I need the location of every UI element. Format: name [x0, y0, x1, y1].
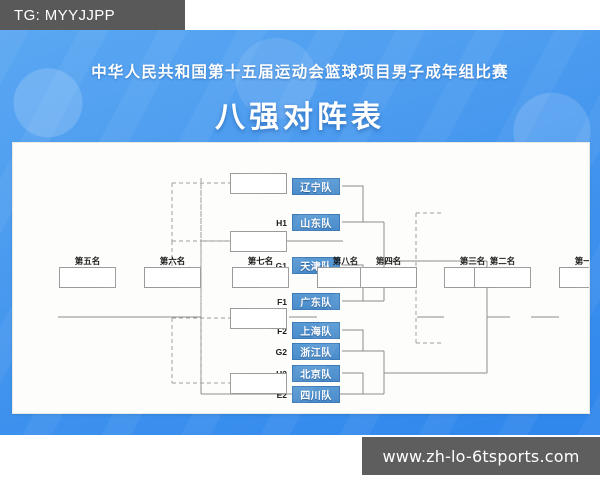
- team-chip-guangdong[interactable]: 广东队: [292, 293, 340, 310]
- consolation-slot-2[interactable]: [230, 231, 287, 252]
- team-chip-liaoning[interactable]: 辽宁队: [292, 178, 340, 195]
- page-title: 中华人民共和国第十五届运动会篮球项目男子成年组比赛: [0, 60, 600, 82]
- telegram-banner: TG: MYYJJPP: [0, 0, 185, 30]
- url-watermark: www.zh-lo-6tsports.com: [362, 437, 600, 475]
- rank-slot-1[interactable]: [559, 267, 590, 288]
- rank-label-2: 第二名: [474, 255, 531, 267]
- bracket-card: E1 辽宁队 H1 山东队 G1 天津队 F1 广东队 F2 上海队 G2 浙江…: [12, 142, 590, 414]
- rank-label-7: 第七名: [232, 255, 289, 267]
- rank-label-4: 第四名: [360, 255, 417, 267]
- consolation-slot-1[interactable]: [230, 173, 287, 194]
- screenshot-root: TG: MYYJJPP 中华人民共和国第十五届运动会篮球项目男子成年组比赛 八强…: [0, 0, 600, 480]
- team-chip-beijing[interactable]: 北京队: [292, 365, 340, 382]
- rank-label-1: 第一名: [559, 255, 590, 267]
- rank-slot-5[interactable]: [59, 267, 116, 288]
- rank-slot-4[interactable]: [360, 267, 417, 288]
- rank-label-5: 第五名: [59, 255, 116, 267]
- consolation-slot-4[interactable]: [230, 373, 287, 394]
- seed-label-h1: H1: [269, 214, 287, 231]
- rank-slot-7[interactable]: [232, 267, 289, 288]
- url-watermark-text: www.zh-lo-6tsports.com: [382, 447, 579, 466]
- rank-slot-2[interactable]: [474, 267, 531, 288]
- rank-slot-6[interactable]: [144, 267, 201, 288]
- poster-title-block: 中华人民共和国第十五届运动会篮球项目男子成年组比赛 八强对阵表: [0, 30, 600, 136]
- team-chip-zhejiang[interactable]: 浙江队: [292, 343, 340, 360]
- poster-background: 中华人民共和国第十五届运动会篮球项目男子成年组比赛 八强对阵表: [0, 30, 600, 435]
- rank-label-6: 第六名: [144, 255, 201, 267]
- team-chip-sichuan[interactable]: 四川队: [292, 386, 340, 403]
- team-chip-shandong[interactable]: 山东队: [292, 214, 340, 231]
- telegram-banner-label: TG: MYYJJPP: [14, 7, 115, 24]
- seed-label-g2: G2: [269, 343, 287, 360]
- team-chip-shanghai[interactable]: 上海队: [292, 322, 340, 339]
- page-subtitle: 八强对阵表: [0, 92, 600, 136]
- consolation-slot-3[interactable]: [230, 308, 287, 329]
